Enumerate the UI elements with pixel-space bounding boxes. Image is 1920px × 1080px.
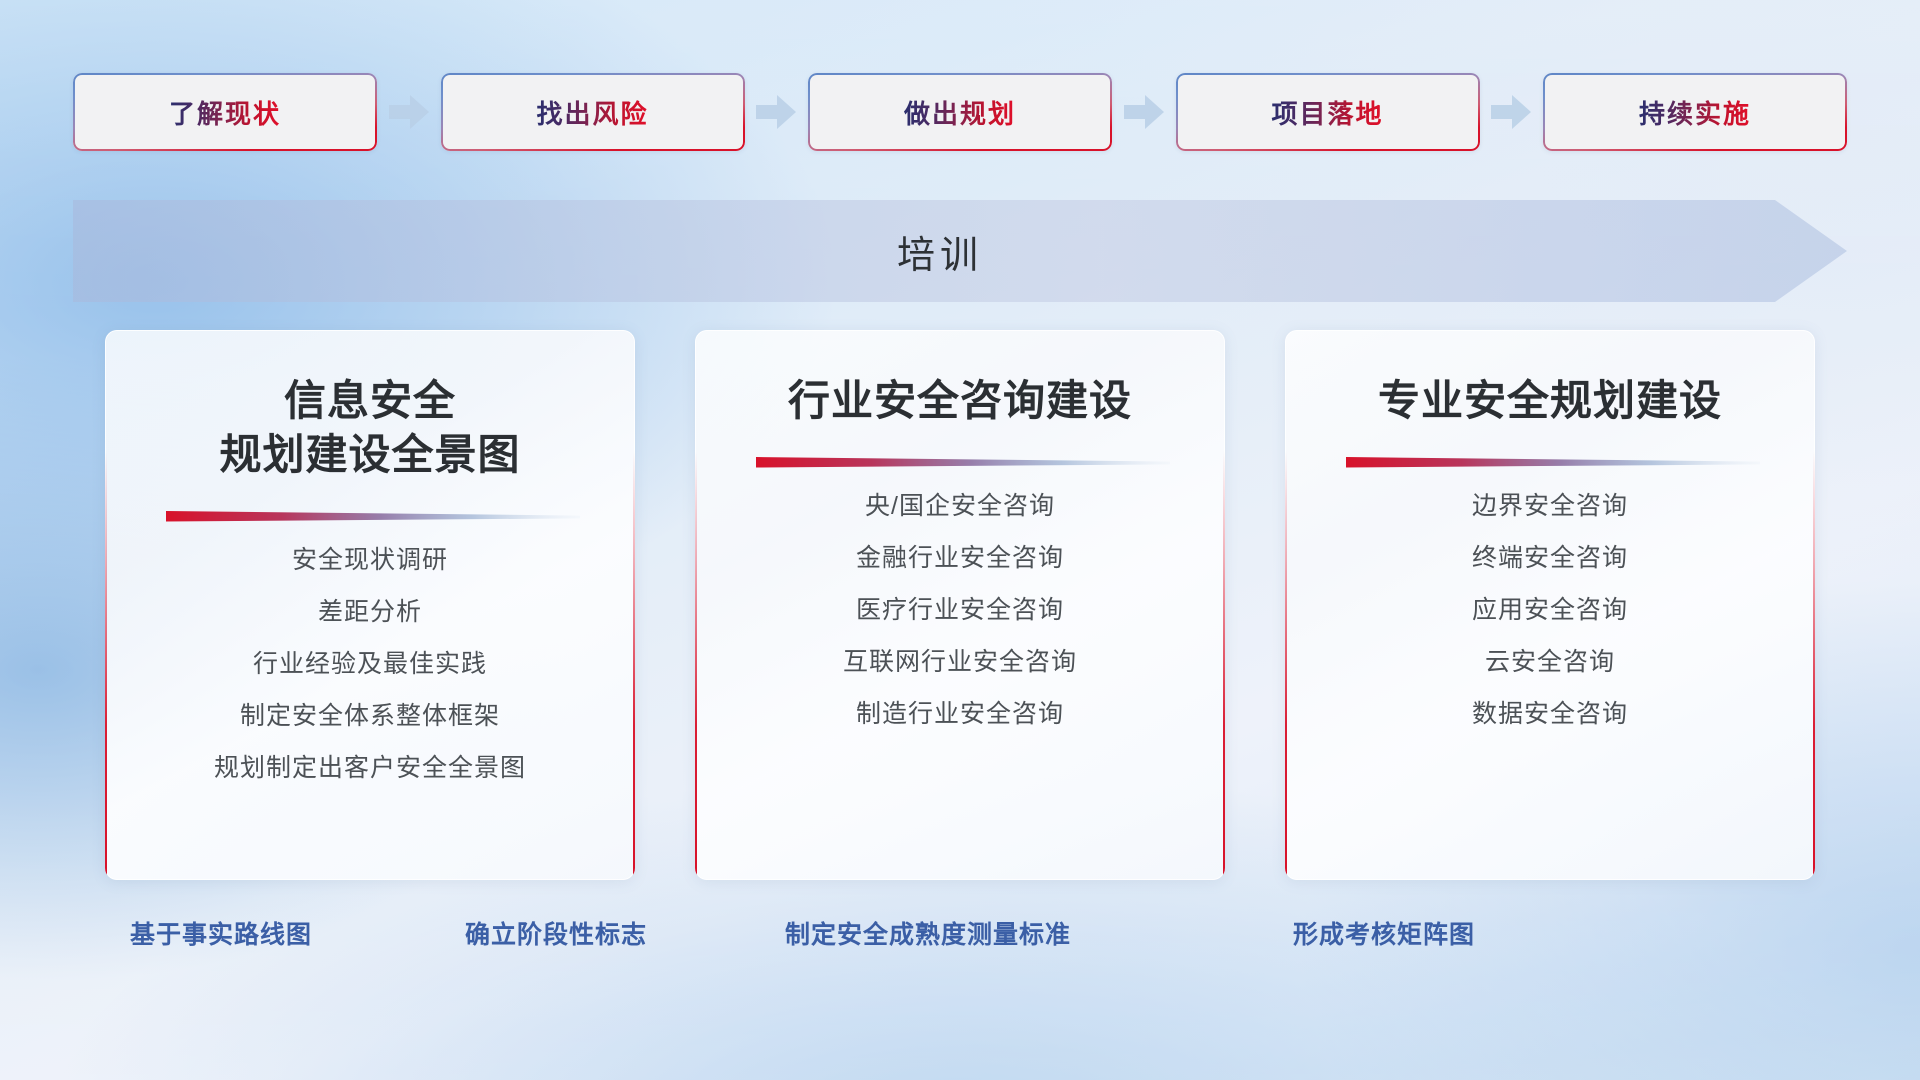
process-step-label: 找出风险 [536,94,648,131]
arrow-right-icon [1490,93,1532,131]
process-step-label: 了解现状 [169,94,281,131]
list-item[interactable]: 数据安全咨询 [1285,702,1815,727]
footer-label-3: 制定安全成熟度测量标准 [785,915,1071,951]
footer-label-2: 确立阶段性标志 [465,915,647,951]
card-2: 行业安全咨询建设央/国企安全咨询金融行业安全咨询医疗行业安全咨询互联网行业安全咨… [695,330,1225,880]
list-item[interactable]: 制定安全体系整体框架 [105,704,635,729]
footer-label-row: 基于事实路线图确立阶段性标志制定安全成熟度测量标准形成考核矩阵图 [0,915,1920,965]
card-title: 专业安全规划建设 [1378,374,1722,428]
card-divider-rule [750,454,1170,472]
process-step-label: 做出规划 [904,94,1016,131]
list-item[interactable]: 应用安全咨询 [1285,598,1815,623]
card-1: 信息安全 规划建设全景图安全现状调研差距分析行业经验及最佳实践制定安全体系整体框… [105,330,635,880]
list-item[interactable]: 云安全咨询 [1285,650,1815,675]
card-title: 信息安全 规划建设全景图 [219,374,520,482]
footer-label-4: 形成考核矩阵图 [1293,915,1475,951]
card-divider-rule [160,508,580,526]
list-item[interactable]: 互联网行业安全咨询 [695,650,1225,675]
card-panel[interactable]: 信息安全 规划建设全景图安全现状调研差距分析行业经验及最佳实践制定安全体系整体框… [105,330,635,880]
list-item[interactable]: 规划制定出客户安全全景图 [105,756,635,781]
process-step-2[interactable]: 找出风险 [441,73,745,151]
list-item[interactable]: 终端安全咨询 [1285,546,1815,571]
card-title: 行业安全咨询建设 [788,374,1132,428]
training-banner: 培训 [73,200,1847,302]
card-panel[interactable]: 专业安全规划建设边界安全咨询终端安全咨询应用安全咨询云安全咨询数据安全咨询 [1285,330,1815,880]
list-item[interactable]: 边界安全咨询 [1285,494,1815,519]
process-step-3[interactable]: 做出规划 [808,73,1112,151]
list-item[interactable]: 行业经验及最佳实践 [105,652,635,677]
card-item-list: 边界安全咨询终端安全咨询应用安全咨询云安全咨询数据安全咨询 [1285,494,1815,754]
list-item[interactable]: 安全现状调研 [105,548,635,573]
card-row: 信息安全 规划建设全景图安全现状调研差距分析行业经验及最佳实践制定安全体系整体框… [0,330,1920,880]
arrow-right-icon [1123,93,1165,131]
list-item[interactable]: 差距分析 [105,600,635,625]
list-item[interactable]: 央/国企安全咨询 [695,494,1225,519]
list-item[interactable]: 医疗行业安全咨询 [695,598,1225,623]
process-step-label: 持续实施 [1639,94,1751,131]
card-3: 专业安全规划建设边界安全咨询终端安全咨询应用安全咨询云安全咨询数据安全咨询 [1285,330,1815,880]
arrow-right-icon [388,93,430,131]
process-step-1[interactable]: 了解现状 [73,73,377,151]
process-step-label: 项目落地 [1271,94,1383,131]
card-item-list: 央/国企安全咨询金融行业安全咨询医疗行业安全咨询互联网行业安全咨询制造行业安全咨… [695,494,1225,754]
card-divider-rule [1340,454,1760,472]
footer-label-1: 基于事实路线图 [130,915,312,951]
process-step-5[interactable]: 持续实施 [1543,73,1847,151]
process-step-row: 了解现状找出风险做出规划项目落地持续实施 [0,73,1920,151]
process-step-4[interactable]: 项目落地 [1176,73,1480,151]
list-item[interactable]: 制造行业安全咨询 [695,702,1225,727]
list-item[interactable]: 金融行业安全咨询 [695,546,1225,571]
arrow-right-icon [755,93,797,131]
card-item-list: 安全现状调研差距分析行业经验及最佳实践制定安全体系整体框架规划制定出客户安全全景… [105,548,635,808]
training-banner-title: 培训 [73,200,1847,302]
card-panel[interactable]: 行业安全咨询建设央/国企安全咨询金融行业安全咨询医疗行业安全咨询互联网行业安全咨… [695,330,1225,880]
